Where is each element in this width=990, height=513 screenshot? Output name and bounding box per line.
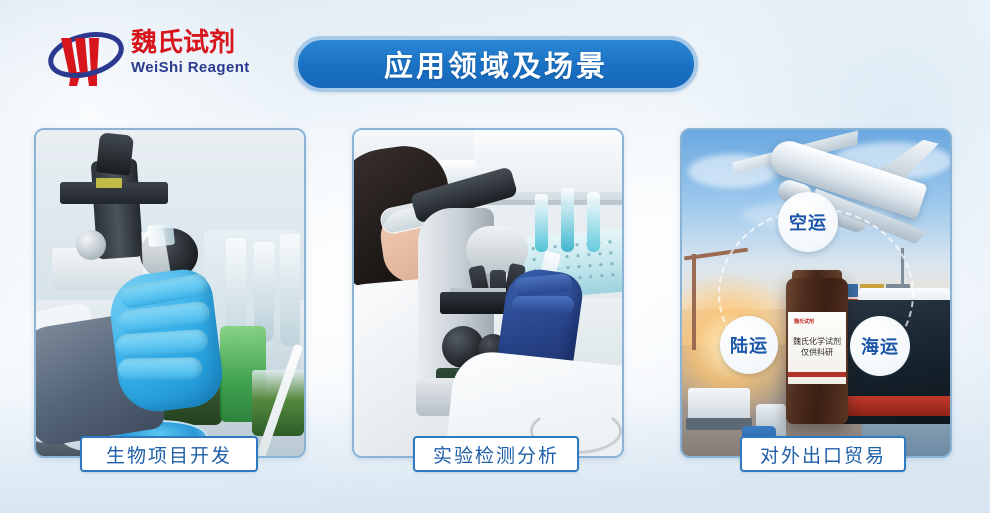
badge-air-label: 空运 — [789, 209, 827, 235]
badge-sea-label: 海运 — [861, 333, 899, 359]
card-lab-analysis[interactable] — [352, 128, 624, 458]
badge-land: 陆运 — [720, 316, 778, 374]
card-grid: 魏氏试剂 魏氏化学试剂 仅供科研 空运 陆运 海运 生物项目开发 实验检测分析 … — [0, 0, 990, 513]
badge-air: 空运 — [778, 192, 838, 252]
card-export-trade[interactable]: 魏氏试剂 魏氏化学试剂 仅供科研 空运 陆运 海运 — [680, 128, 952, 458]
card-label-lab-analysis-text: 实验检测分析 — [433, 441, 559, 468]
card-label-export-trade[interactable]: 对外出口贸易 — [740, 436, 906, 472]
card-label-bio-project-text: 生物项目开发 — [106, 441, 232, 468]
bottle-brand-mark: 魏氏试剂 — [794, 318, 814, 325]
bottle-label-text: 魏氏化学试剂 仅供科研 — [788, 336, 846, 358]
photo-bio-project — [36, 130, 304, 456]
bottle-label-line2: 仅供科研 — [801, 348, 833, 357]
photo-export-trade: 魏氏试剂 魏氏化学试剂 仅供科研 空运 陆运 海运 — [682, 130, 950, 456]
card-label-export-trade-text: 对外出口贸易 — [760, 441, 886, 468]
card-bio-project[interactable] — [34, 128, 306, 458]
bottle-label-line1: 魏氏化学试剂 — [793, 337, 841, 346]
card-label-lab-analysis[interactable]: 实验检测分析 — [413, 436, 579, 472]
badge-land-label: 陆运 — [730, 332, 768, 358]
badge-sea: 海运 — [850, 316, 910, 376]
photo-lab-analysis — [354, 130, 622, 456]
card-label-bio-project[interactable]: 生物项目开发 — [80, 436, 258, 472]
